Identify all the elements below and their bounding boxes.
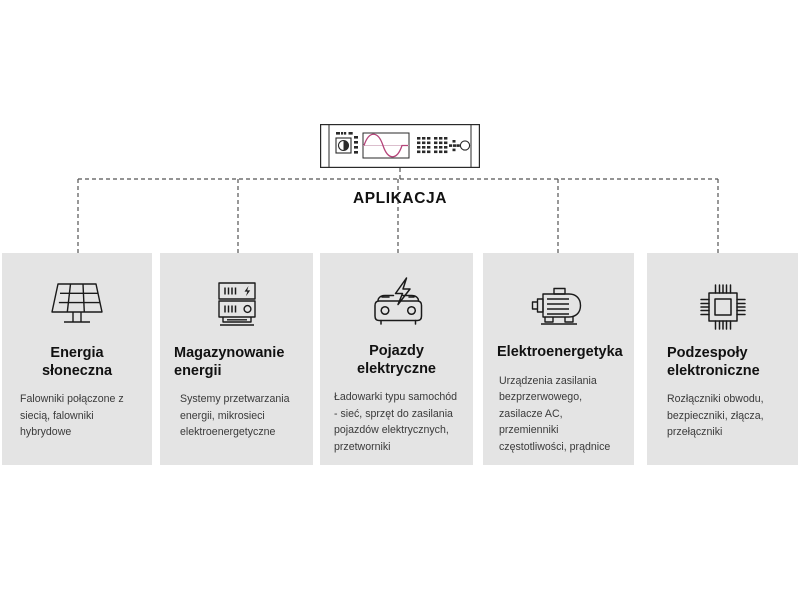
card-description: Urządzenia zasilania bezprzerwowego, zas… xyxy=(497,373,620,455)
card-description: Falowniki połączone z siecią, falowniki … xyxy=(16,391,138,440)
card-title: Energiasłoneczna xyxy=(16,345,138,380)
card-description: Rozłączniki obwodu, bezpieczniki, złącza… xyxy=(661,391,784,440)
card-title: Magazynowanieenergii xyxy=(174,345,284,380)
microchip-icon xyxy=(694,278,752,334)
card-icon-slot xyxy=(16,269,138,343)
card-title: Pojazdyelektryczne xyxy=(334,343,459,378)
card-icon-slot xyxy=(497,269,620,342)
category-card-energia-sloneczna[interactable]: Energiasłoneczna Falowniki połączone z s… xyxy=(2,253,152,465)
card-icon-slot xyxy=(334,269,459,341)
category-card-row: Energiasłoneczna Falowniki połączone z s… xyxy=(0,253,800,465)
electric-vehicle-icon xyxy=(362,276,432,334)
category-card-podzespoly-elektroniczne[interactable]: Podzespołyelektroniczne Rozłączniki obwo… xyxy=(647,253,798,465)
diagram-canvas: APLIKACJA Energias xyxy=(0,0,800,600)
power-source-instrument-icon xyxy=(320,124,480,168)
category-card-pojazdy-elektryczne[interactable]: Pojazdyelektryczne Ładowarki typu samoch… xyxy=(320,253,473,465)
card-icon-slot xyxy=(661,269,784,343)
card-icon-slot xyxy=(174,269,299,343)
category-card-magazynowanie-energii[interactable]: Magazynowanieenergii Systemy przetwarzan… xyxy=(160,253,313,465)
category-card-elektroenergetyka[interactable]: Elektroenergetyka Urządzenia zasilania b… xyxy=(483,253,634,465)
root-node-device xyxy=(320,124,480,168)
card-title: Elektroenergetyka xyxy=(497,344,620,362)
card-description: Systemy przetwarzania energii, mikrosiec… xyxy=(174,391,299,440)
battery-rack-icon xyxy=(207,278,267,334)
card-title: Podzespołyelektroniczne xyxy=(661,345,760,380)
electric-motor-icon xyxy=(525,280,593,332)
solar-panel-icon xyxy=(46,278,108,334)
card-description: Ładowarki typu samochód - sieć, sprzęt d… xyxy=(334,389,459,455)
center-label-aplikacja: APLIKACJA xyxy=(0,190,800,208)
